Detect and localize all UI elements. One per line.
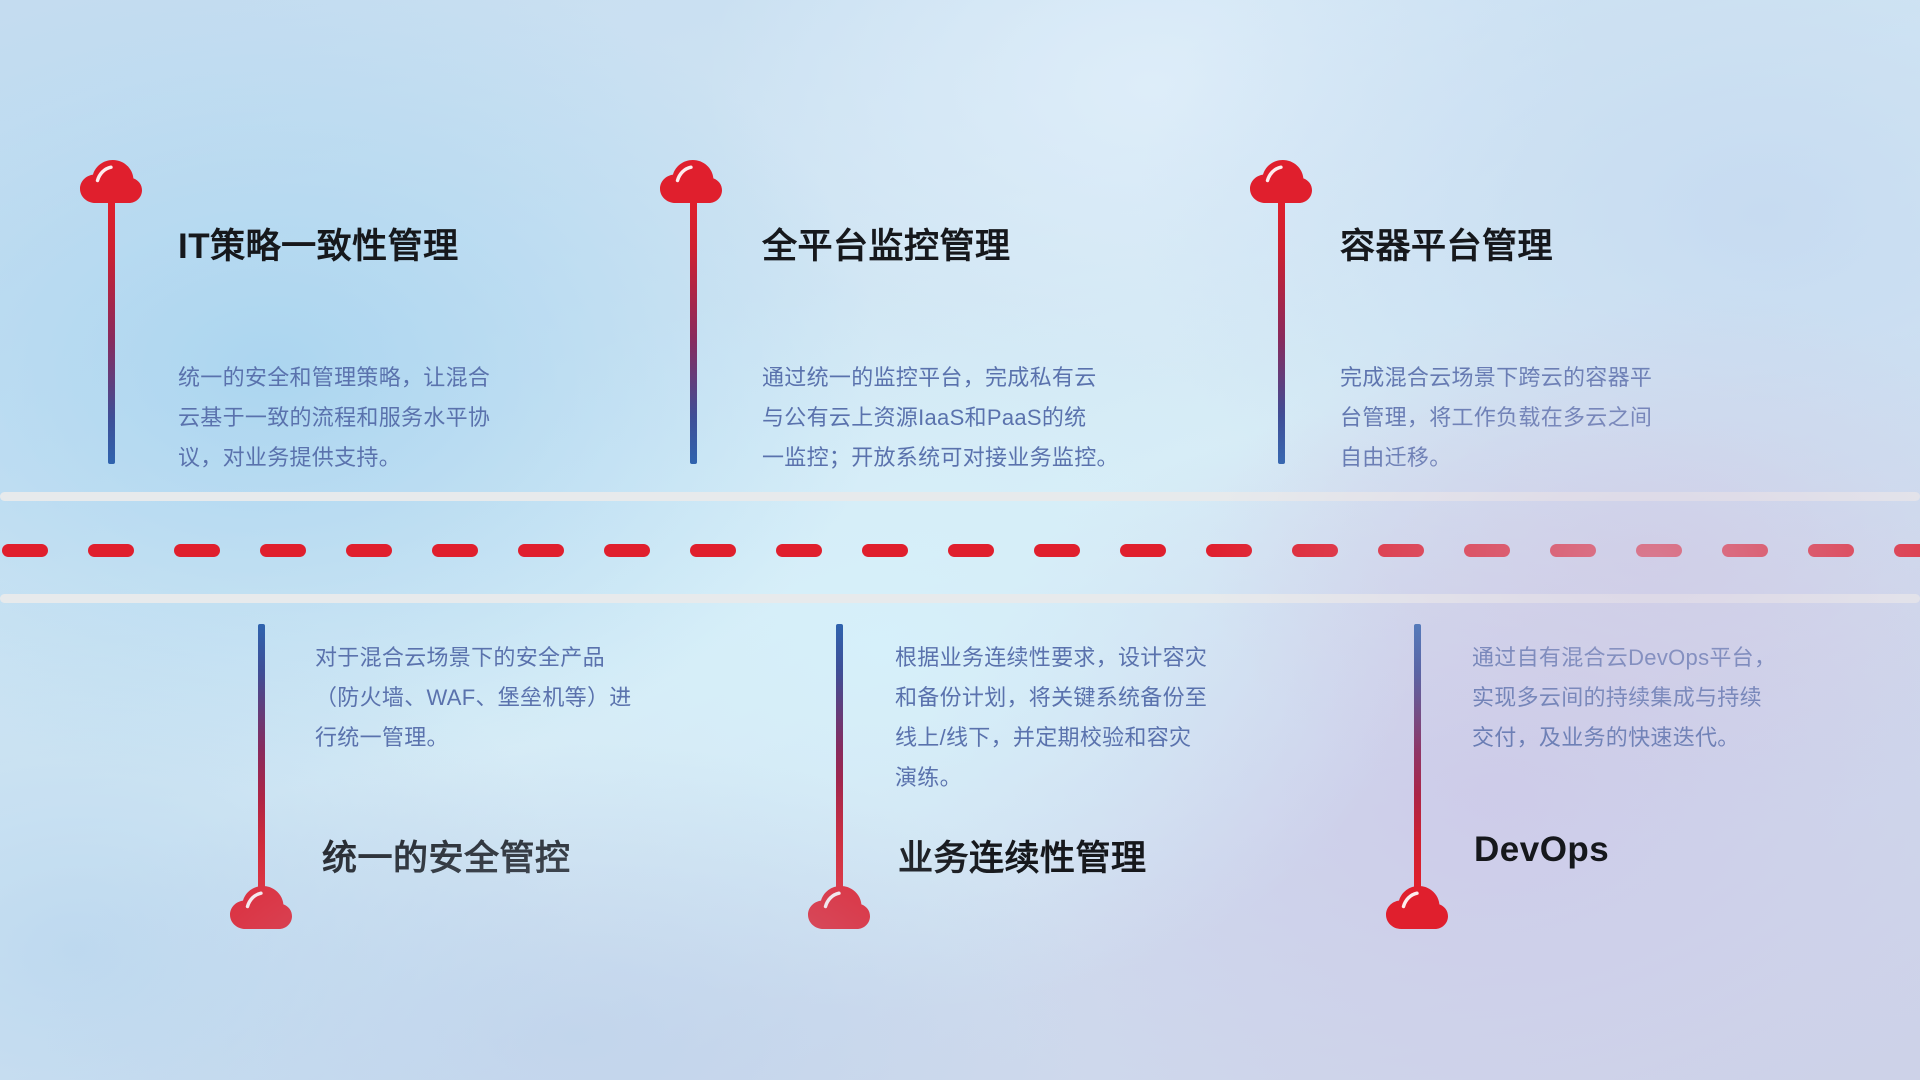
cloud-pin-bottom-2 <box>808 886 870 930</box>
dash-segment <box>88 544 134 557</box>
cloud-icon <box>1250 160 1312 204</box>
body-bottom-2: 根据业务连续性要求，设计容灾 和备份计划，将关键系统备份至 线上/线下，并定期校… <box>895 638 1335 798</box>
dash-segment <box>346 544 392 557</box>
dash-segment <box>1464 544 1510 557</box>
divider-rule-bottom <box>0 594 1920 603</box>
heading-bottom-2: 业务连续性管理 <box>898 830 1147 881</box>
dash-segment <box>432 544 478 557</box>
cloud-pin-bottom-1 <box>230 886 292 930</box>
dash-segment <box>604 544 650 557</box>
cloud-icon <box>660 160 722 204</box>
divider-rule-top <box>0 492 1920 501</box>
body-bottom-1: 对于混合云场景下的安全产品 （防火墙、WAF、堡垒机等）进 行统一管理。 <box>315 638 745 758</box>
dash-segment <box>2 544 48 557</box>
infographic-canvas: IT策略一致性管理 统一的安全和管理策略，让混合 云基于一致的流程和服务水平协 … <box>0 0 1920 1080</box>
heading-top-2: 全平台监控管理 <box>762 218 1011 269</box>
stem-top-2 <box>690 200 697 464</box>
cloud-pin-top-1 <box>80 160 142 204</box>
body-top-1: 统一的安全和管理策略，让混合 云基于一致的流程和服务水平协 议，对业务提供支持。 <box>178 358 608 478</box>
dash-segment <box>518 544 564 557</box>
stem-bottom-1 <box>258 624 265 890</box>
dash-segment <box>1722 544 1768 557</box>
dash-segment <box>690 544 736 557</box>
heading-top-1: IT策略一致性管理 <box>178 218 459 269</box>
dash-segment <box>1894 544 1920 557</box>
stem-bottom-2 <box>836 624 843 890</box>
stem-bottom-3 <box>1414 624 1421 890</box>
cloud-icon <box>1386 886 1448 930</box>
dash-segment <box>1550 544 1596 557</box>
body-bottom-3: 通过自有混合云DevOps平台， 实现多云间的持续集成与持续 交付，及业务的快速… <box>1472 638 1902 758</box>
cloud-pin-bottom-3 <box>1386 886 1448 930</box>
stem-top-1 <box>108 200 115 464</box>
dash-segment <box>1120 544 1166 557</box>
red-dashed-line <box>0 544 1920 557</box>
dash-segment <box>948 544 994 557</box>
dash-segment <box>862 544 908 557</box>
dash-segment <box>776 544 822 557</box>
heading-bottom-1: 统一的安全管控 <box>322 830 571 881</box>
heading-bottom-3: DevOps <box>1474 830 1609 870</box>
dash-segment <box>1378 544 1424 557</box>
body-top-2: 通过统一的监控平台，完成私有云 与公有云上资源IaaS和PaaS的统 一监控；开… <box>762 358 1202 478</box>
dash-segment <box>174 544 220 557</box>
dash-segment <box>1808 544 1854 557</box>
cloud-pin-top-3 <box>1250 160 1312 204</box>
dash-segment <box>260 544 306 557</box>
body-top-3: 完成混合云场景下跨云的容器平 台管理，将工作负载在多云之间 自由迁移。 <box>1340 358 1770 478</box>
cloud-pin-top-2 <box>660 160 722 204</box>
cloud-icon <box>230 886 292 930</box>
stem-top-3 <box>1278 200 1285 464</box>
dash-segment <box>1636 544 1682 557</box>
dash-segment <box>1034 544 1080 557</box>
heading-top-3: 容器平台管理 <box>1340 218 1553 269</box>
dash-segment <box>1206 544 1252 557</box>
cloud-icon <box>80 160 142 204</box>
dash-segment <box>1292 544 1338 557</box>
cloud-icon <box>808 886 870 930</box>
